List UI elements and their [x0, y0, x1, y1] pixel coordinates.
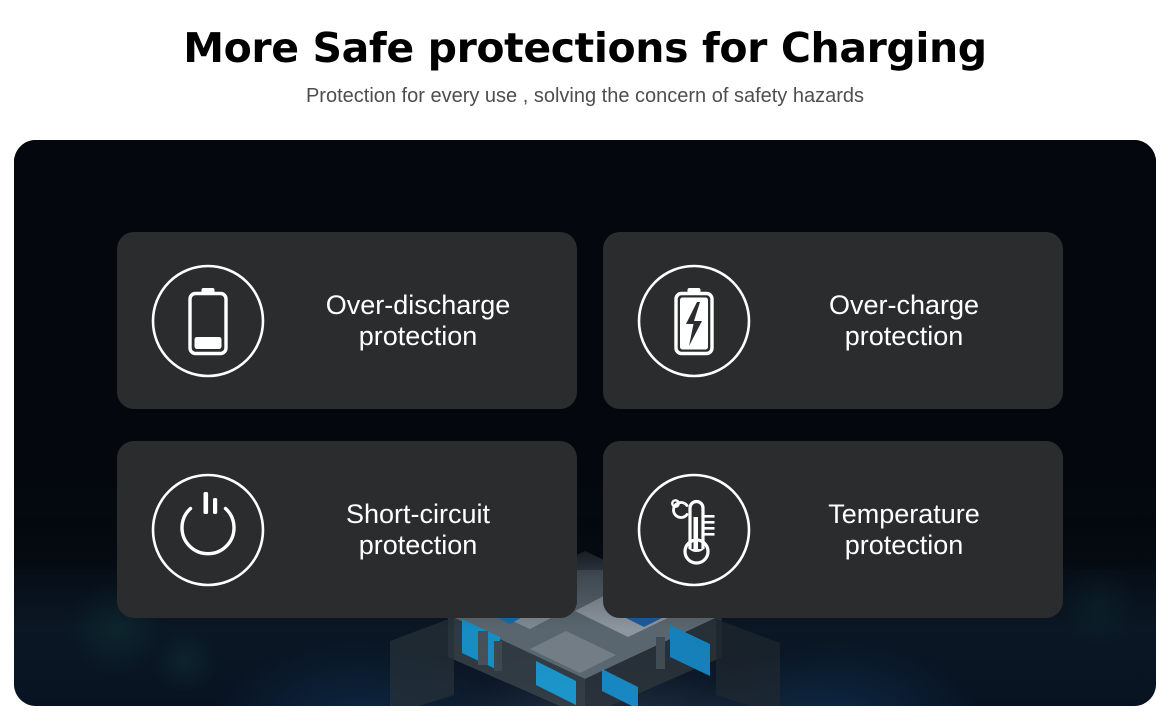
- feature-card-temperature[interactable]: Temperature protection: [603, 441, 1063, 618]
- feature-card-label: Temperature protection: [753, 499, 1063, 560]
- feature-card-label: Over-discharge protection: [267, 290, 577, 351]
- features-panel: Over-discharge protection Over-charge pr…: [14, 140, 1156, 706]
- power-short-circuit-icon: [149, 471, 267, 589]
- battery-low-icon: [149, 262, 267, 380]
- feature-card-over-discharge[interactable]: Over-discharge protection: [117, 232, 577, 409]
- feature-card-label: Short-circuit protection: [267, 499, 577, 560]
- feature-card-label: Over-charge protection: [753, 290, 1063, 351]
- page-header: More Safe protections for Charging Prote…: [0, 0, 1170, 108]
- thermometer-celsius-icon: [635, 471, 753, 589]
- page-subtitle: Protection for every use , solving the c…: [0, 84, 1170, 108]
- battery-charging-bolt-icon: [635, 262, 753, 380]
- page-title: More Safe protections for Charging: [0, 26, 1170, 71]
- feature-card-over-charge[interactable]: Over-charge protection: [603, 232, 1063, 409]
- feature-card-grid: Over-discharge protection Over-charge pr…: [117, 232, 1063, 618]
- feature-card-short-circuit[interactable]: Short-circuit protection: [117, 441, 577, 618]
